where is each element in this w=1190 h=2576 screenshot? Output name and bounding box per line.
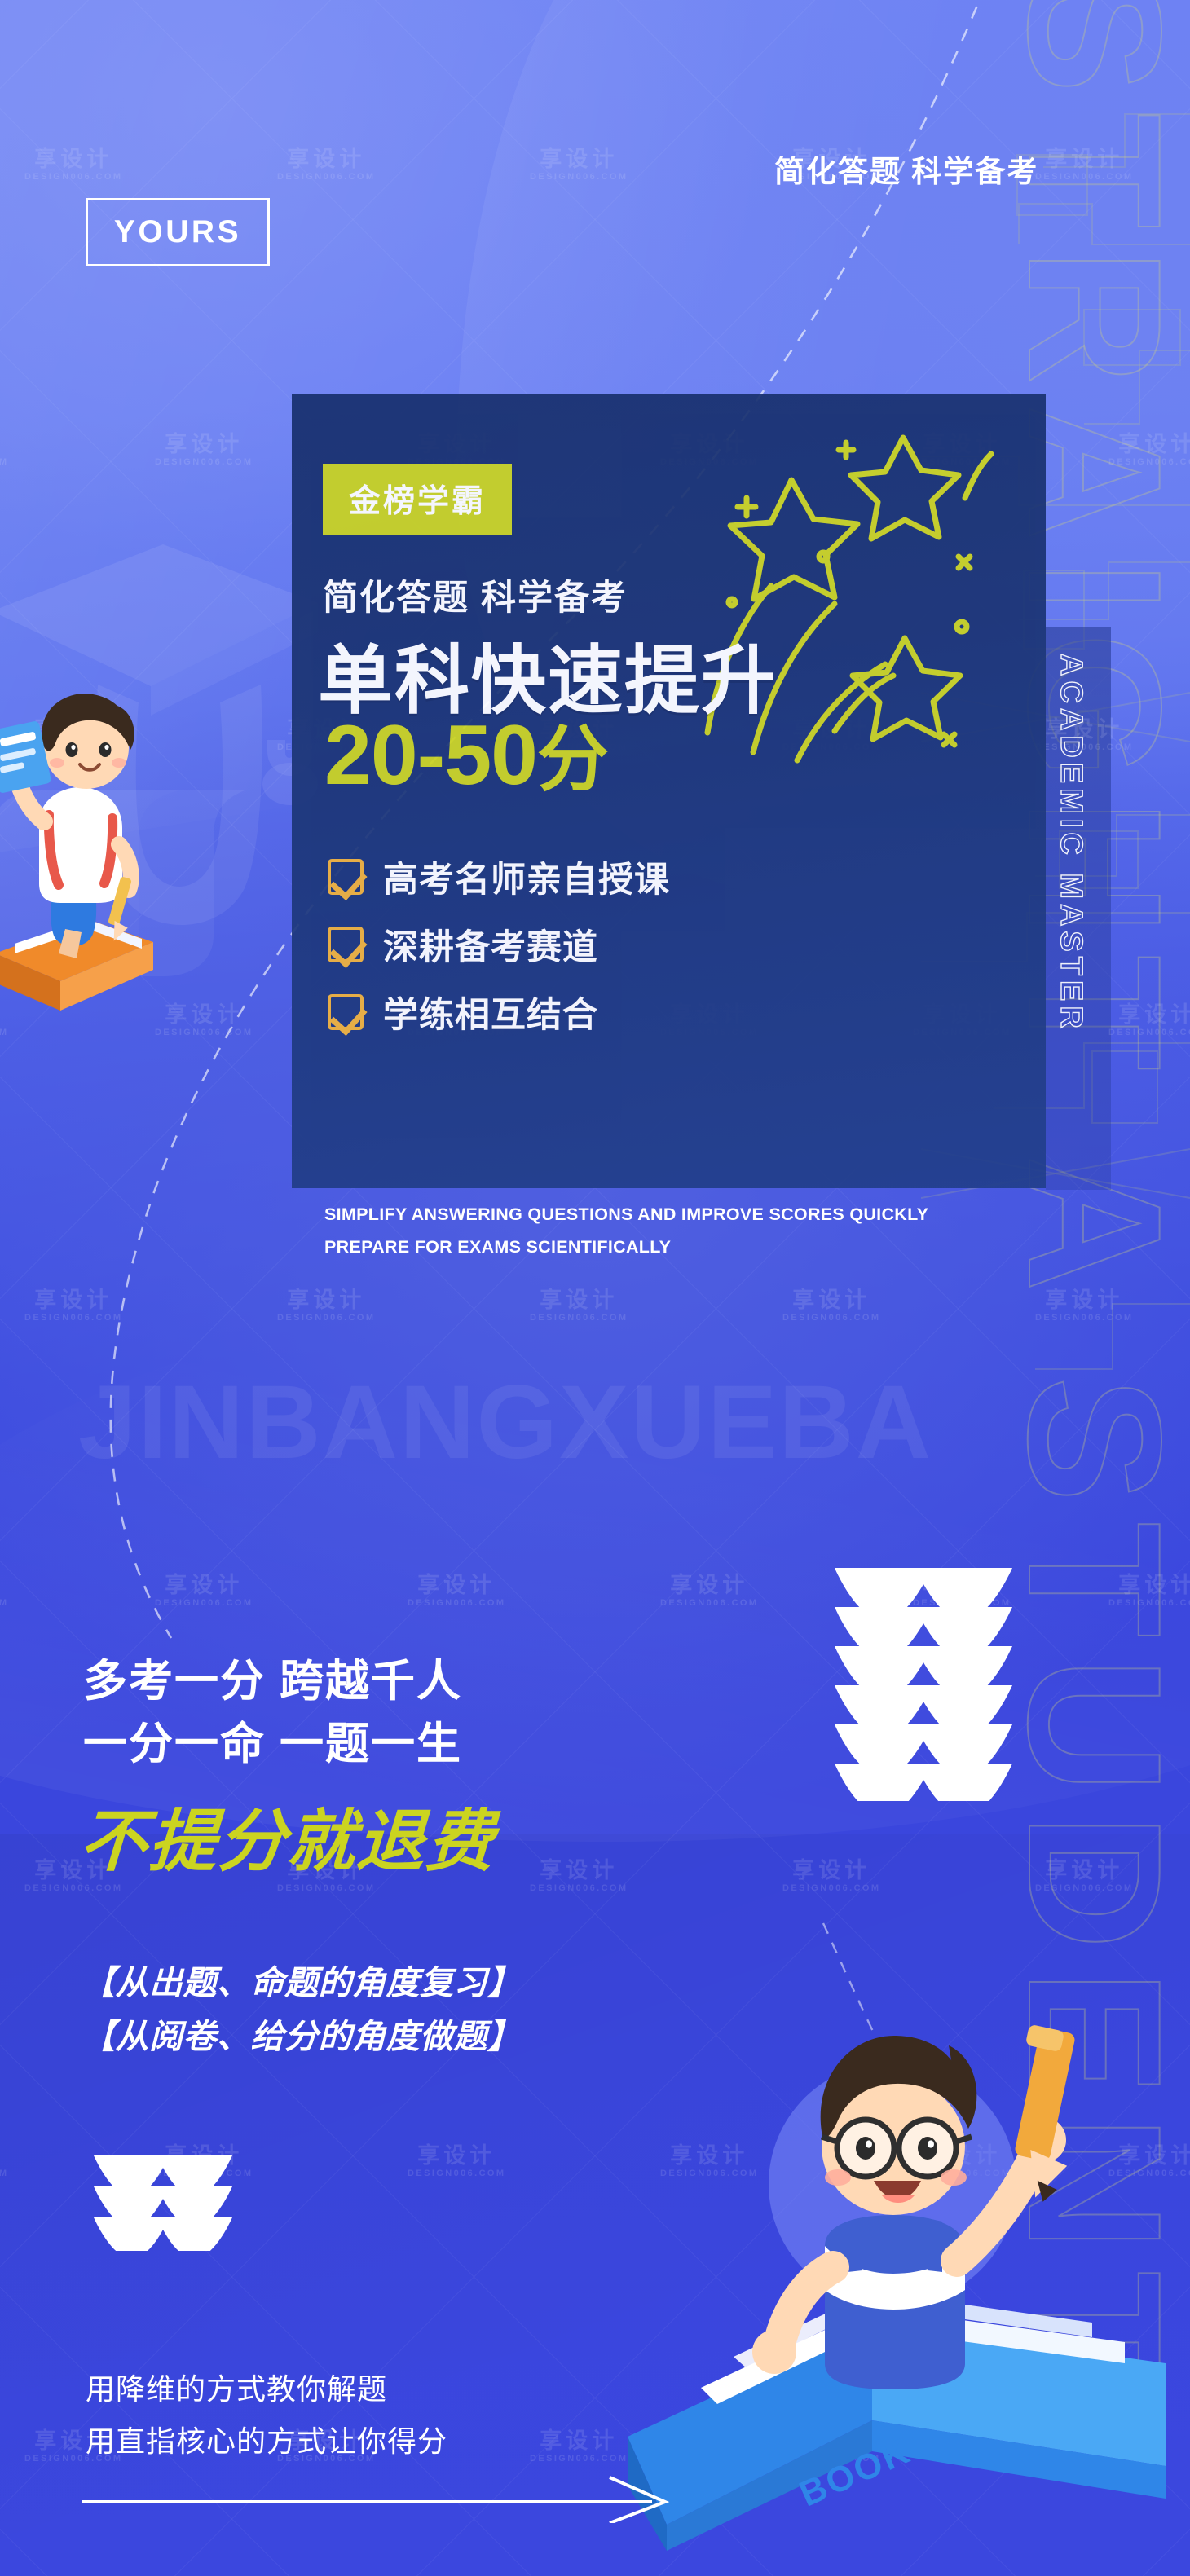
poster-root: STRAIGHT A STUDENT ACADEMIC MASTER JINBA…	[0, 0, 1190, 2576]
shooting-stars-icon	[675, 402, 1034, 793]
watermark-cn: 享设计	[0, 1573, 8, 1598]
check-box-icon	[328, 994, 364, 1030]
list-item: 深耕备考赛道	[328, 924, 670, 965]
watermark-en: DESIGN006.COM	[155, 1598, 253, 1609]
score-range-display: 20-50分	[324, 713, 608, 798]
watermark-en: DESIGN006.COM	[408, 2169, 505, 2179]
bottom-arrow-icon	[82, 2476, 685, 2523]
watermark-en: DESIGN006.COM	[277, 172, 375, 183]
bird-chevron-motif-right	[830, 1565, 1017, 1801]
watermark-en: DESIGN006.COM	[530, 1313, 628, 1323]
badge-label: 金榜学霸	[349, 484, 486, 519]
watermark-cn: 享设计	[1108, 1573, 1190, 1598]
header-slogan: 简化答题 科学备考	[774, 147, 1038, 191]
watermark-cn: 享设计	[277, 1288, 375, 1313]
card-subtitle: 简化答题 科学备考	[323, 570, 628, 620]
watermark-cn: 享设计	[530, 1288, 628, 1313]
watermark-cn: 享设计	[155, 1573, 253, 1598]
bird-chevron-motif-left	[90, 2153, 236, 2251]
watermark-cn: 享设计	[530, 147, 628, 172]
mid-slogan-line2: 一分一命 一题一生	[83, 1713, 462, 1776]
watermark-cn: 享设计	[0, 2143, 8, 2169]
watermark-en: DESIGN006.COM	[1035, 172, 1133, 183]
bracket-note-line1: 【从出题、命题的角度复习】	[82, 1956, 522, 2010]
mid-slogan-block: 多考一分 跨越千人 一分一命 一题一生	[83, 1650, 462, 1775]
mid-slogan-line1: 多考一分 跨越千人	[83, 1650, 462, 1713]
english-caption-line1: SIMPLIFY ANSWERING QUESTIONS AND IMPROVE…	[324, 1199, 928, 1231]
student-boy-with-pencil-illustration: BOOK	[603, 1980, 1190, 2551]
watermark-en: DESIGN006.COM	[155, 457, 253, 468]
list-item: 学练相互结合	[328, 992, 670, 1033]
logo-box[interactable]: YOURS	[86, 198, 270, 266]
check-box-icon	[328, 927, 364, 962]
watermark-cn: 享设计	[0, 432, 8, 457]
bullet-label: 高考名师亲自授课	[383, 852, 670, 902]
watermark-en: DESIGN006.COM	[0, 1598, 8, 1609]
watermark-en: DESIGN006.COM	[24, 1883, 122, 1894]
bottom-text-line1: 用降维的方式教你解题	[86, 2363, 447, 2415]
watermark-cn: 享设计	[782, 1858, 880, 1883]
watermark-cn: 享设计	[24, 147, 122, 172]
watermark-en: DESIGN006.COM	[1108, 457, 1190, 468]
watermark-cn: 享设计	[660, 1573, 758, 1598]
bottom-text-line2: 用直指核心的方式让你得分	[86, 2415, 447, 2468]
watermark-en: DESIGN006.COM	[530, 172, 628, 183]
watermark-en: DESIGN006.COM	[660, 1598, 758, 1609]
watermark-cn: 享设计	[530, 1858, 628, 1883]
bottom-text-block: 用降维的方式教你解题 用直指核心的方式让你得分	[86, 2363, 447, 2468]
watermark-en: DESIGN006.COM	[408, 1598, 505, 1609]
english-caption: SIMPLIFY ANSWERING QUESTIONS AND IMPROVE…	[324, 1199, 928, 1264]
english-caption-line2: PREPARE FOR EXAMS SCIENTIFICALLY	[324, 1231, 928, 1264]
feature-bullet-list: 高考名师亲自授课 深耕备考赛道 学练相互结合	[328, 856, 670, 1059]
watermark-en: DESIGN006.COM	[1035, 742, 1133, 753]
right-ribbon	[1046, 627, 1111, 1190]
student-boy-on-book-illustration	[0, 685, 243, 1035]
list-item: 高考名师亲自授课	[328, 856, 670, 897]
check-box-icon	[328, 859, 364, 895]
watermark-cn: 享设计	[155, 432, 253, 457]
watermark-cn: 享设计	[782, 1288, 880, 1313]
watermark-cn: 享设计	[408, 1573, 505, 1598]
ribbon-vertical-text: ACADEMIC MASTER	[1053, 654, 1088, 1033]
watermark-cn: 享设计	[408, 2143, 505, 2169]
main-offer-card: 金榜学霸 简化答题 科学备考 单科快速提升 20-50分 高考名师亲自授课 深耕…	[292, 394, 1046, 1188]
watermark-cn: 享设计	[1035, 1858, 1133, 1883]
logo-text: YOURS	[114, 214, 241, 250]
bullet-label: 深耕备考赛道	[383, 919, 598, 970]
watermark-en: DESIGN006.COM	[0, 457, 8, 468]
watermark-en: DESIGN006.COM	[1035, 1313, 1133, 1323]
watermark-cn: 享设计	[1108, 1002, 1190, 1028]
watermark-en: DESIGN006.COM	[1108, 1598, 1190, 1609]
bracket-note-block: 【从出题、命题的角度复习】 【从阅卷、给分的角度做题】	[82, 1956, 522, 2064]
pinyin-watermark: JINBANGXUEBA	[78, 1363, 932, 1482]
watermark-en: DESIGN006.COM	[277, 1883, 375, 1894]
watermark-en: DESIGN006.COM	[782, 1883, 880, 1894]
score-range-value: 20-50	[324, 708, 537, 803]
watermark-cn: 享设计	[1035, 717, 1133, 742]
badge-jinbangxueba: 金榜学霸	[323, 464, 512, 535]
highlight-guarantee: 不提分就退费	[77, 1786, 498, 1884]
score-unit: 分	[537, 719, 608, 799]
watermark-en: DESIGN006.COM	[530, 1883, 628, 1894]
bullet-label: 学练相互结合	[383, 987, 598, 1037]
bracket-note-line2: 【从阅卷、给分的角度做题】	[82, 2010, 522, 2063]
watermark-en: DESIGN006.COM	[24, 172, 122, 183]
watermark-en: DESIGN006.COM	[277, 1313, 375, 1323]
watermark-en: DESIGN006.COM	[782, 1313, 880, 1323]
watermark-cn: 享设计	[1035, 1288, 1133, 1313]
watermark-en: DESIGN006.COM	[0, 2169, 8, 2179]
watermark-en: DESIGN006.COM	[24, 1313, 122, 1323]
watermark-en: DESIGN006.COM	[1108, 1028, 1190, 1038]
watermark-cn: 享设计	[277, 147, 375, 172]
watermark-cn: 享设计	[1108, 432, 1190, 457]
watermark-en: DESIGN006.COM	[1035, 1883, 1133, 1894]
watermark-cn: 享设计	[24, 1288, 122, 1313]
watermark-cn: 享设计	[1035, 147, 1133, 172]
